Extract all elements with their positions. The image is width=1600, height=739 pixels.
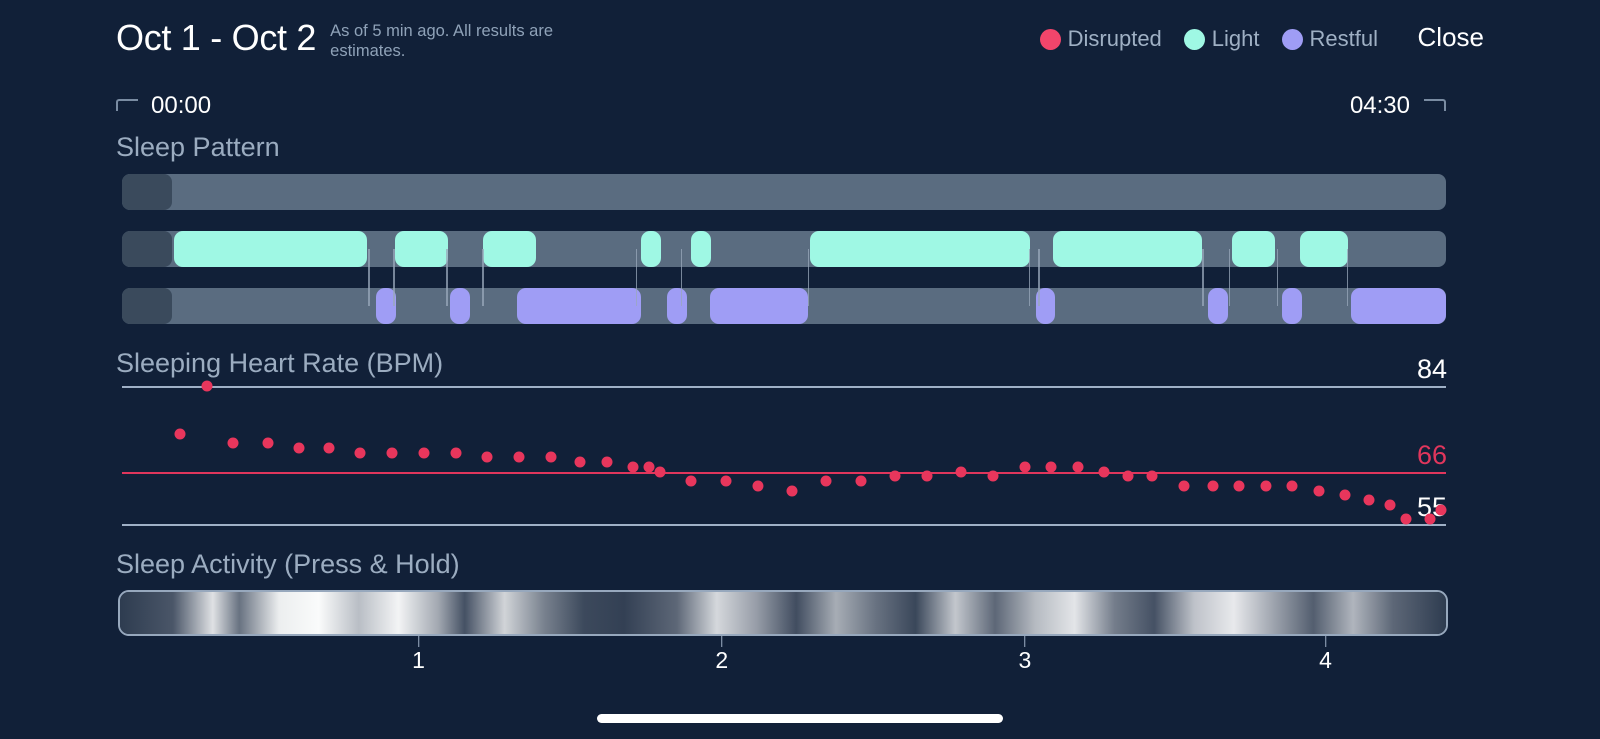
pattern-segment-light[interactable] [1300,231,1348,267]
hr-data-point [575,457,586,468]
sleep-detail-screen: Oct 1 - Oct 2 As of 5 min ago. All resul… [0,0,1600,739]
hr-data-point [890,471,901,482]
hr-data-point [752,480,763,491]
hr-data-point [821,476,832,487]
hr-data-point [545,452,556,463]
hr-data-point [1260,480,1271,491]
hr-data-point [1287,480,1298,491]
hr-data-point [294,442,305,453]
circle-dot-icon [1184,29,1205,50]
pattern-connector [1347,249,1349,306]
axis-tick [418,636,420,647]
hr-data-point [786,485,797,496]
pattern-segment-light[interactable] [174,231,367,267]
sleep-activity-title: Sleep Activity (Press & Hold) [116,549,460,580]
pattern-segment-light[interactable] [691,231,711,267]
time-axis: 00:00 04:30 [116,92,1446,122]
bracket-right-icon [1424,99,1446,111]
pattern-segment-restful[interactable] [517,288,641,324]
hr-data-point [323,442,334,453]
legend-label: Light [1212,26,1260,52]
hr-value-label-66: 66 [1417,440,1447,471]
hr-data-point [654,466,665,477]
hr-data-point [921,471,932,482]
hr-data-point [1207,480,1218,491]
hr-reference-line-66 [122,472,1446,474]
pattern-connector [482,249,484,306]
pattern-segment-light[interactable] [483,231,536,267]
hr-data-point [450,447,461,458]
axis-tick [1024,636,1026,647]
legend-item-light: Light [1184,26,1260,52]
pattern-connector [681,249,683,306]
hr-data-point [1178,480,1189,491]
pattern-connector [368,249,370,306]
pattern-segment-restful[interactable] [667,288,687,324]
sleep-pattern-chart[interactable] [122,174,1446,328]
pattern-segment-light[interactable] [1053,231,1203,267]
pattern-segment-restful[interactable] [1282,288,1302,324]
hr-data-point [514,452,525,463]
hr-data-point [262,438,273,449]
page-subtitle: As of 5 min ago. All results are estimat… [330,21,590,61]
hr-reference-line-55 [122,524,1446,526]
axis-tick-label: 4 [1319,647,1332,674]
hr-data-point [956,466,967,477]
pattern-segment-light[interactable] [641,231,661,267]
hr-data-point [1019,461,1030,472]
track-start-cap [122,288,172,324]
pattern-connector [393,249,395,306]
hr-data-point [201,381,212,392]
bracket-left-icon [116,99,138,111]
hr-data-point [1401,514,1412,525]
hr-data-point [988,471,999,482]
legend-item-restful: Restful [1282,26,1378,52]
hr-data-point [1313,485,1324,496]
pattern-segment-restful[interactable] [1351,288,1446,324]
pattern-segment-restful[interactable] [710,288,808,324]
pattern-connector [636,249,638,306]
bottom-time-axis: 1234 [122,636,1446,676]
hr-data-point [1046,461,1057,472]
pattern-track-light [122,231,1446,267]
legend-item-disrupted: Disrupted [1040,26,1162,52]
axis-tick-label: 2 [715,647,728,674]
pattern-track-restful [122,288,1446,324]
header: Oct 1 - Oct 2 As of 5 min ago. All resul… [0,0,1600,78]
hr-data-point [1425,514,1436,525]
pattern-connector [1029,249,1031,306]
activity-gradient [120,592,1446,634]
circle-dot-icon [1040,29,1061,50]
hr-data-point [1072,461,1083,472]
track-start-cap [122,174,172,210]
pattern-segment-restful[interactable] [1208,288,1228,324]
legend-label: Restful [1310,26,1378,52]
hr-reference-line-84 [122,386,1446,388]
time-end-label: 04:30 [1350,92,1410,120]
page-title: Oct 1 - Oct 2 [116,16,316,60]
hr-data-point [1385,499,1396,510]
sleep-pattern-title: Sleep Pattern [116,132,280,163]
pattern-segment-light[interactable] [810,231,1030,267]
home-indicator[interactable] [597,714,1003,723]
pattern-connector [446,249,448,306]
hr-data-point [482,452,493,463]
pattern-segment-light[interactable] [1232,231,1276,267]
axis-tick-label: 3 [1019,647,1032,674]
axis-tick [1325,636,1327,647]
pattern-connector [1202,249,1204,306]
heart-rate-chart[interactable]: 846655 [122,375,1446,535]
pattern-connector [1277,249,1279,306]
hr-value-label-84: 84 [1417,354,1447,385]
hr-data-point [387,447,398,458]
hr-data-point [720,476,731,487]
pattern-connector [1229,249,1231,306]
axis-tick-label: 1 [412,647,425,674]
track-start-cap [122,231,172,267]
hr-data-point [1435,504,1446,515]
hr-data-point [418,447,429,458]
pattern-segment-restful[interactable] [450,288,470,324]
pattern-segment-light[interactable] [395,231,448,267]
hr-data-point [643,461,654,472]
circle-dot-icon [1282,29,1303,50]
time-start-label: 00:00 [151,92,211,120]
close-button[interactable]: Close [1418,22,1484,53]
hr-data-point [686,476,697,487]
legend-label: Disrupted [1068,26,1162,52]
pattern-connector [1038,249,1040,306]
hr-data-point [628,461,639,472]
hr-data-point [1234,480,1245,491]
hr-data-point [1099,466,1110,477]
hr-data-point [175,428,186,439]
hr-data-point [855,476,866,487]
hr-data-point [1364,495,1375,506]
sleep-activity-strip[interactable] [118,590,1448,636]
legend: DisruptedLightRestful [1040,26,1378,52]
hr-data-point [228,438,239,449]
hr-data-point [1340,490,1351,501]
hr-data-point [1147,471,1158,482]
axis-tick [721,636,723,647]
hr-data-point [1123,471,1134,482]
hr-data-point [601,457,612,468]
hr-data-point [355,447,366,458]
pattern-track-disrupted [122,174,1446,210]
pattern-connector [808,249,810,306]
title-block: Oct 1 - Oct 2 As of 5 min ago. All resul… [116,16,590,61]
